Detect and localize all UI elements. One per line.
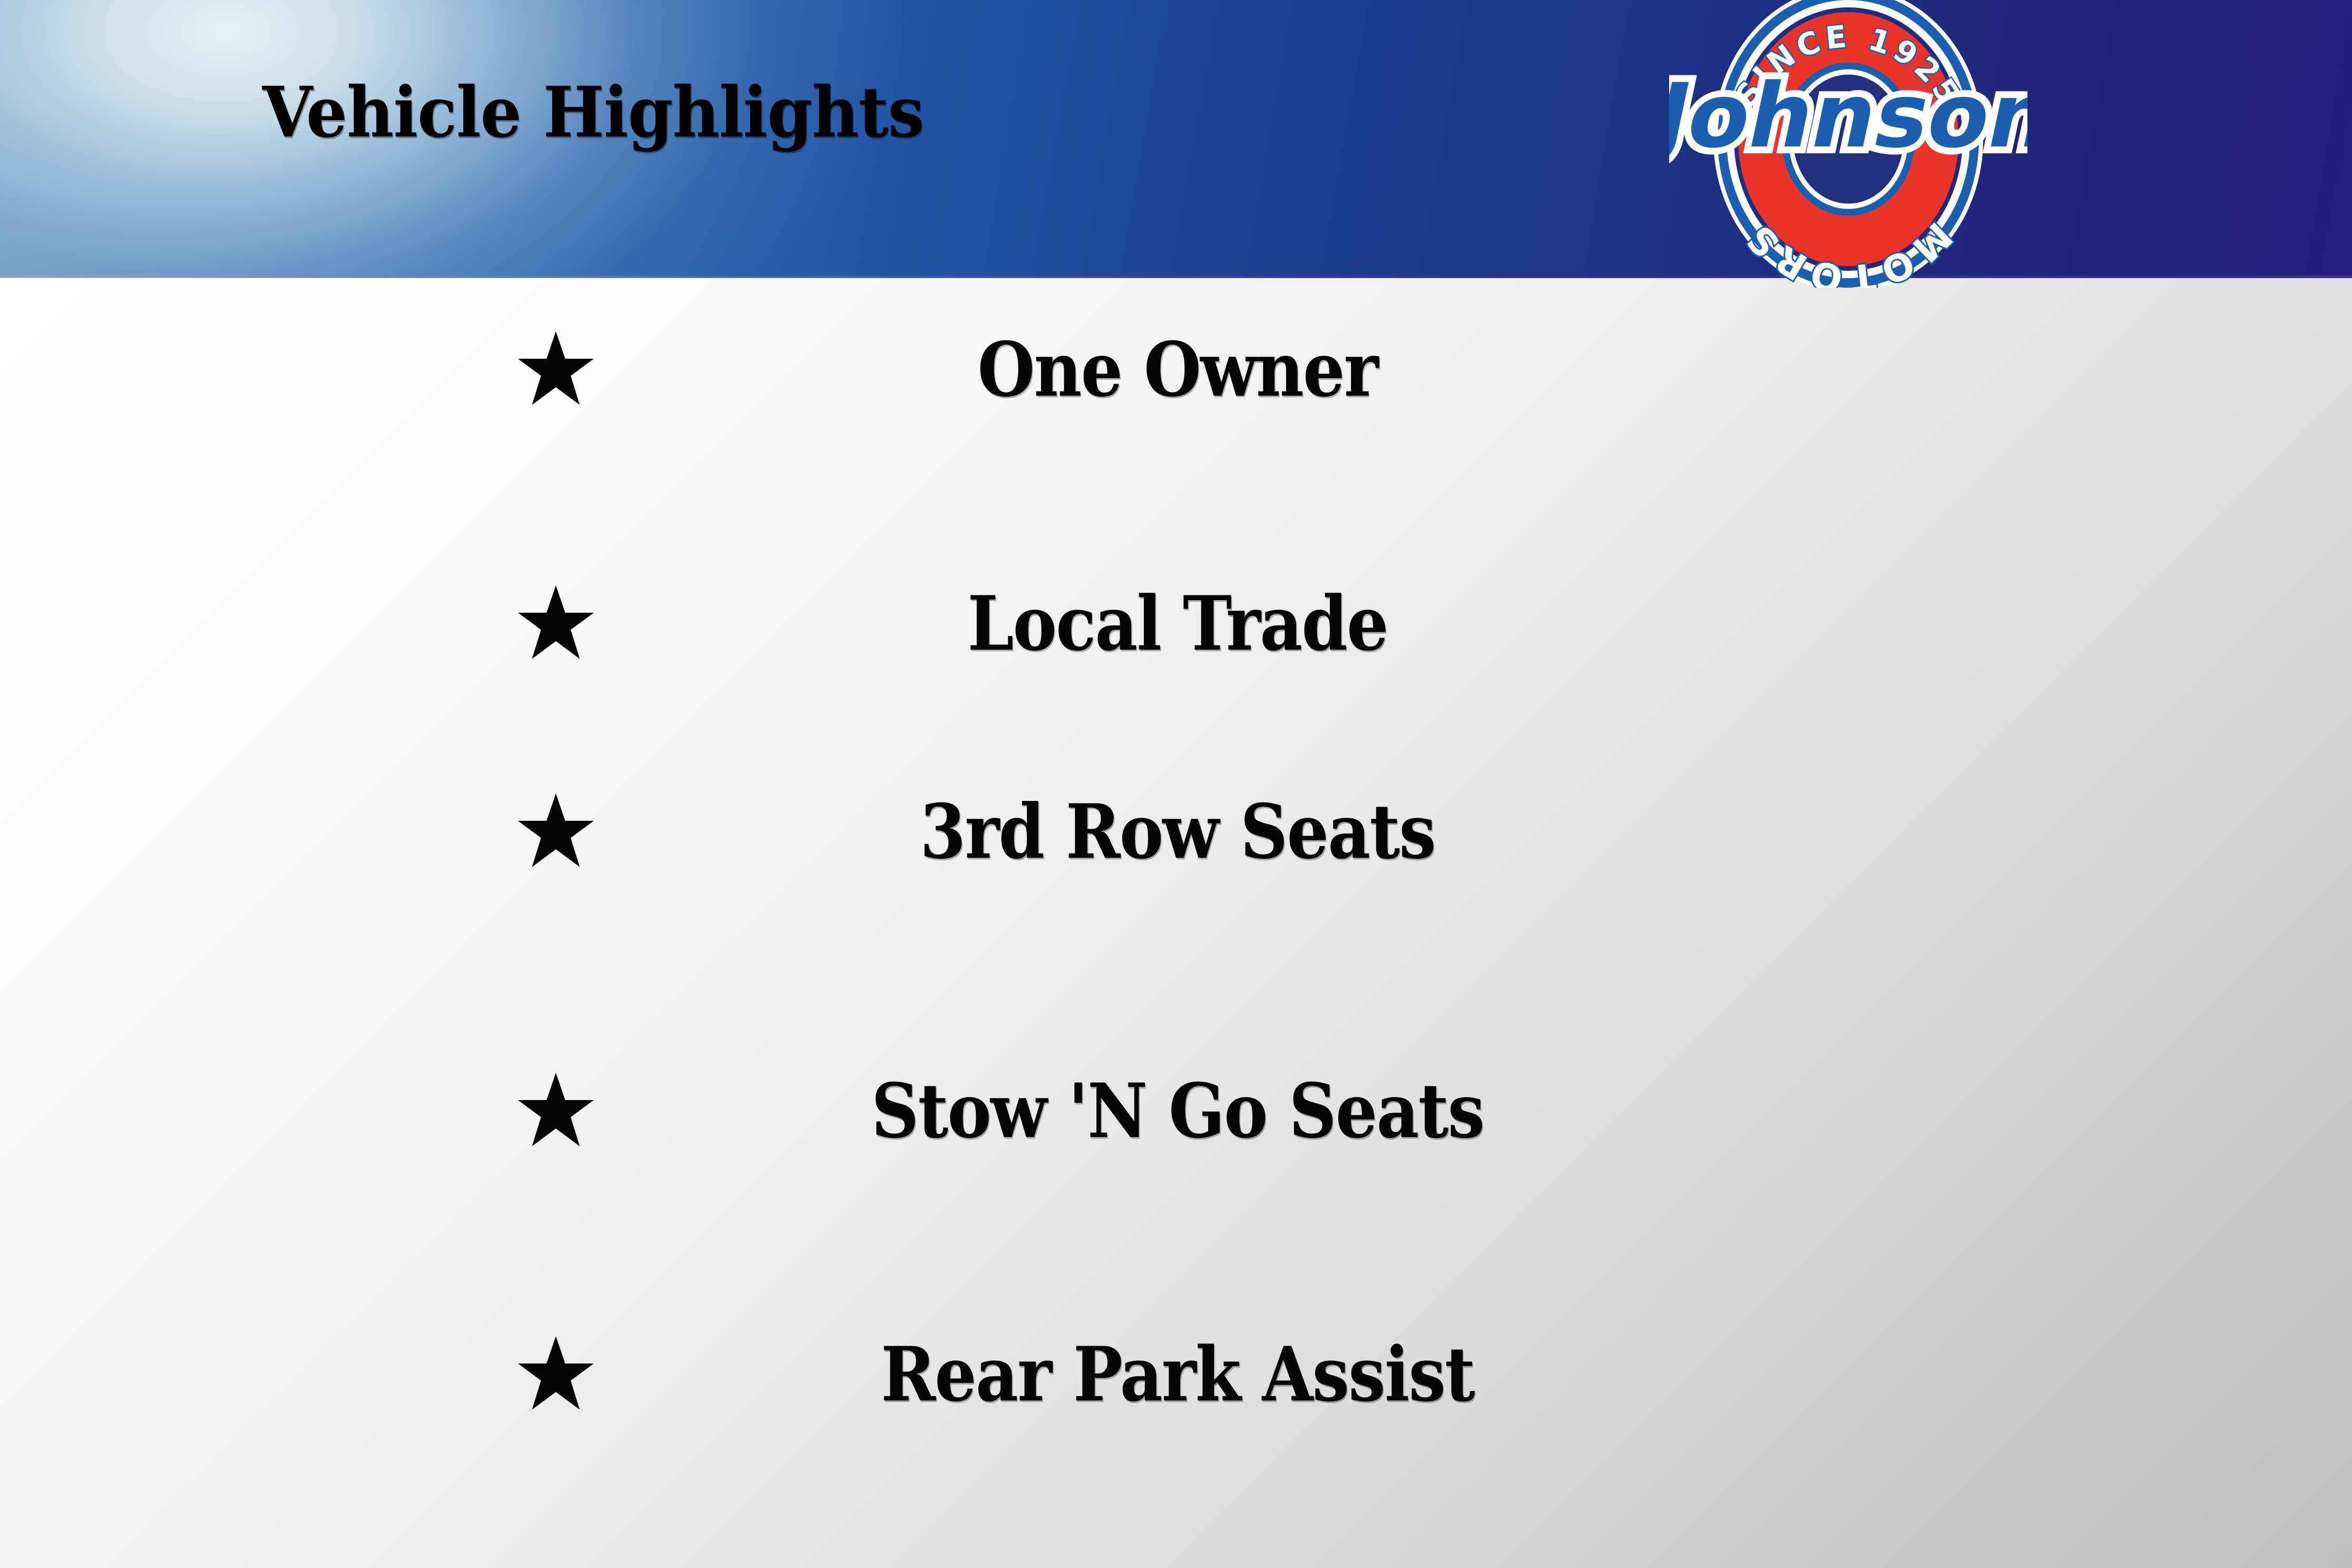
highlights-list: One Owner Local Trade 3rd Row Seats xyxy=(0,278,2352,1568)
list-item-label: One Owner xyxy=(772,332,1583,407)
vehicle-highlights-slide: Vehicle Highlights SINCE 1925 xyxy=(0,0,2352,1568)
star-icon xyxy=(516,1334,595,1414)
list-item-label: 3rd Row Seats xyxy=(772,795,1583,869)
list-item-label: Local Trade xyxy=(772,586,1583,661)
list-item-label: Stow 'N Go Seats xyxy=(772,1074,1583,1149)
star-icon xyxy=(516,329,595,409)
list-item: 3rd Row Seats xyxy=(0,791,2352,876)
logo-wordmark-group: Johnson Johnson xyxy=(1669,65,2027,168)
list-item: Local Trade xyxy=(0,583,2352,668)
star-icon xyxy=(516,583,595,663)
list-item: Rear Park Assist xyxy=(0,1334,2352,1418)
list-item: Stow 'N Go Seats xyxy=(0,1071,2352,1155)
list-item: One Owner xyxy=(0,329,2352,414)
logo-wordmark-fill: Johnson xyxy=(1669,65,2027,168)
star-icon xyxy=(516,1071,595,1151)
johnson-motors-logo[interactable]: SINCE 1925 MOTORS Johnson Johnson xyxy=(1669,0,2027,288)
star-icon xyxy=(516,791,595,871)
list-item-label: Rear Park Assist xyxy=(772,1337,1583,1412)
page-title: Vehicle Highlights xyxy=(262,78,924,148)
